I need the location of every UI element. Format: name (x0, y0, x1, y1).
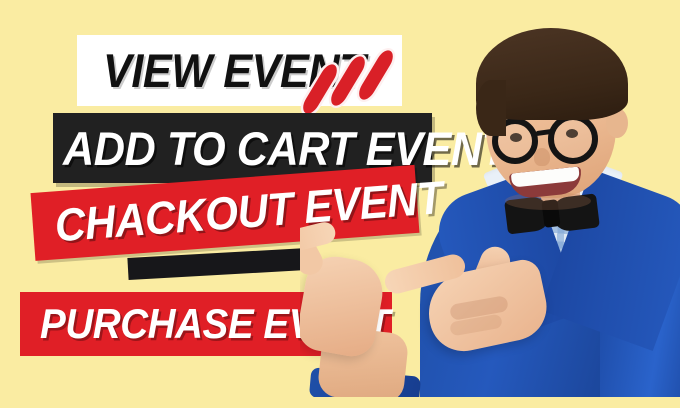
person-photo (300, 0, 680, 398)
photo-bottom-crop (300, 397, 680, 408)
hair-side (476, 80, 506, 136)
thumbnail-canvas: VIEW EVENT ADD TO CART EVENT CHACKOUT EV… (0, 0, 680, 408)
glasses-icon (548, 114, 598, 164)
nose (534, 148, 550, 166)
